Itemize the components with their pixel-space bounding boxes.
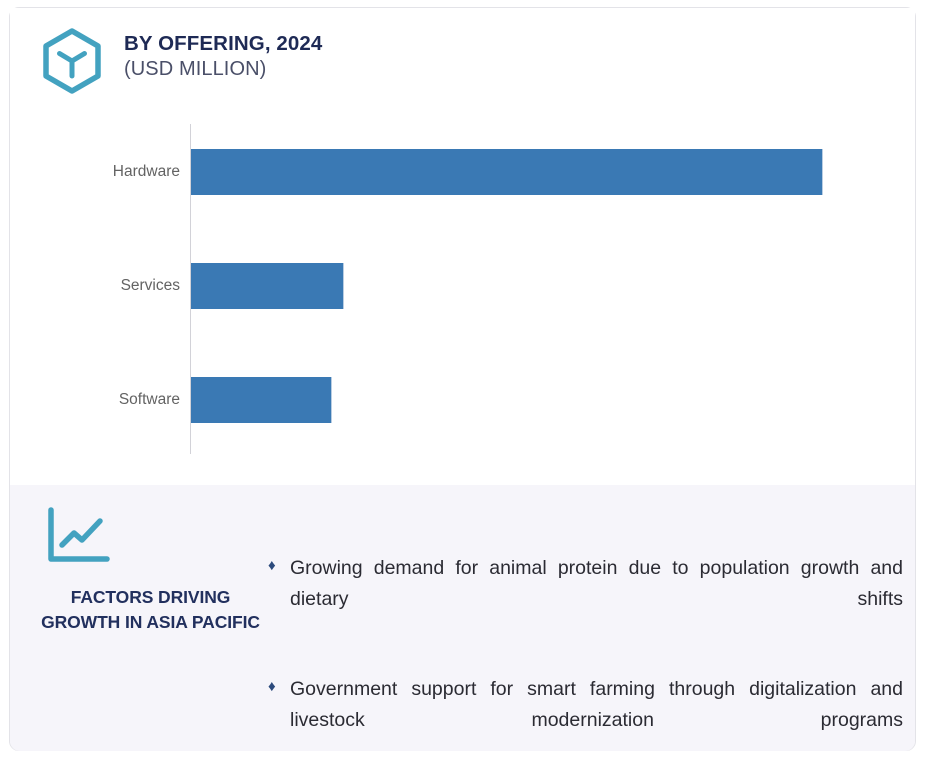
factor-item: ♦Government support for smart farming th… (268, 674, 903, 758)
bar-row: Software (10, 377, 915, 423)
bar-category-label: Services (0, 277, 180, 295)
bar-services (191, 263, 344, 309)
factors-left-column: FACTORS DRIVING GROWTH IN ASIA PACIFIC (13, 485, 288, 751)
factors-heading-line1: FACTORS DRIVING (13, 585, 288, 610)
factors-list: ♦Growing demand for animal protein due t… (268, 553, 903, 758)
bar-chart-plot: HardwareServicesSoftware (10, 116, 915, 461)
bar-rows: HardwareServicesSoftware (10, 116, 915, 461)
chart-title-block: BY OFFERING, 2024 (USD MILLION) (124, 31, 322, 82)
bar-row: Services (10, 263, 915, 309)
factors-panel: FACTORS DRIVING GROWTH IN ASIA PACIFIC ♦… (10, 485, 915, 751)
chart-subtitle: (USD MILLION) (124, 57, 322, 82)
chart-header: BY OFFERING, 2024 (USD MILLION) (40, 25, 322, 94)
line-chart-trend-icon (46, 507, 110, 565)
factor-text: Government support for smart farming thr… (290, 674, 903, 758)
hexagon-y-icon (40, 28, 104, 94)
bar-category-label: Hardware (0, 163, 180, 181)
factor-text: Growing demand for animal protein due to… (290, 553, 903, 647)
factor-item: ♦Growing demand for animal protein due t… (268, 553, 903, 647)
chart-panel: BY OFFERING, 2024 (USD MILLION) Hardware… (10, 8, 915, 485)
bar-software (191, 377, 332, 423)
infographic-root: BY OFFERING, 2024 (USD MILLION) Hardware… (0, 0, 925, 758)
factors-heading-line2: GROWTH IN ASIA PACIFIC (13, 610, 288, 635)
bar-row: Hardware (10, 149, 915, 195)
diamond-bullet-icon: ♦ (268, 674, 290, 699)
chart-title: BY OFFERING, 2024 (124, 31, 322, 56)
bar-category-label: Software (0, 391, 180, 409)
factors-heading: FACTORS DRIVING GROWTH IN ASIA PACIFIC (13, 585, 288, 635)
bar-hardware (191, 149, 823, 195)
diamond-bullet-icon: ♦ (268, 553, 290, 578)
